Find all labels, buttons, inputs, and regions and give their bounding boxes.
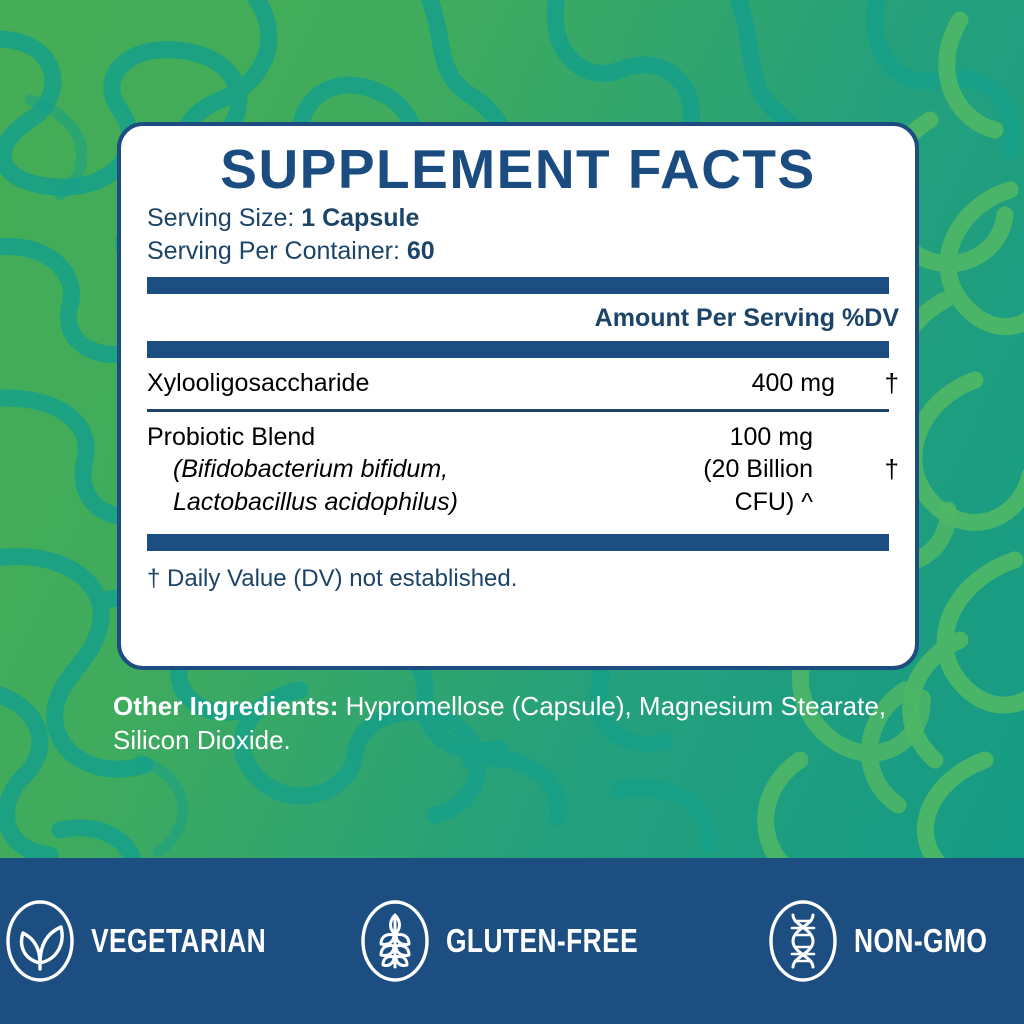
serving-size-line: Serving Size: 1 Capsule — [147, 202, 889, 235]
ingredient-strain-1: (Bifidobacterium bifidum, — [147, 453, 587, 486]
table-row: Xylooligosaccharide 400 mg † — [147, 358, 899, 409]
wheat-icon — [358, 897, 432, 985]
ingredient-dv: † — [835, 358, 899, 409]
column-header-dv: %DV — [835, 294, 899, 341]
amount-line-2: (20 Billion — [703, 455, 813, 483]
ingredient-dv: † — [835, 412, 899, 528]
badge-label-non-gmo: NON-GMO — [854, 922, 987, 960]
certification-badge-bar: VEGETARIAN GLUTEN-FREE — [0, 858, 1024, 1024]
ingredient-name: Xylooligosaccharide — [147, 358, 587, 409]
other-ingredients-label: Other Ingredients: — [113, 691, 338, 721]
badge-label-gluten-free: GLUTEN-FREE — [446, 922, 638, 960]
badge-gluten-free: GLUTEN-FREE — [358, 897, 686, 985]
other-ingredients: Other Ingredients: Hypromellose (Capsule… — [113, 690, 913, 758]
table-header-row: Amount Per Serving %DV — [147, 294, 899, 341]
nutrition-rows: Xylooligosaccharide 400 mg † — [147, 358, 899, 409]
column-header-amount: Amount Per Serving — [587, 294, 835, 341]
ingredient-name: Probiotic Blend — [147, 423, 315, 451]
serving-per-container-value: 60 — [407, 237, 435, 265]
supplement-facts-panel: SUPPLEMENT FACTS Serving Size: 1 Capsule… — [0, 0, 1024, 1024]
table-header-bar — [147, 341, 889, 358]
page-title: SUPPLEMENT FACTS — [147, 140, 889, 198]
ingredient-strain-2: Lactobacillus acidophilus) — [147, 486, 587, 519]
table-row: Probiotic Blend (Bifidobacterium bifidum… — [147, 412, 899, 528]
serving-per-container-line: Serving Per Container: 60 — [147, 235, 889, 268]
ingredient-amount-block: 100 mg (20 Billion CFU) ^ — [587, 412, 835, 528]
supplement-facts-card: SUPPLEMENT FACTS Serving Size: 1 Capsule… — [117, 122, 919, 670]
ingredient-amount: 400 mg — [587, 358, 835, 409]
leaves-icon — [3, 897, 77, 985]
nutrition-rows-2: Probiotic Blend (Bifidobacterium bifidum… — [147, 412, 899, 528]
serving-size-value: 1 Capsule — [301, 204, 419, 232]
serving-size-label: Serving Size: — [147, 204, 294, 232]
nutrition-table: Amount Per Serving %DV — [147, 294, 899, 341]
badge-label-vegetarian: VEGETARIAN — [91, 922, 266, 960]
footnote-daily-value: † Daily Value (DV) not established. — [147, 551, 889, 593]
amount-line-3: CFU) ^ — [735, 488, 813, 516]
table-bottom-bar — [147, 534, 889, 551]
dna-icon — [766, 897, 840, 985]
serving-per-container-label: Serving Per Container: — [147, 237, 400, 265]
amount-line-1: 100 mg — [730, 423, 813, 451]
badge-vegetarian: VEGETARIAN — [3, 897, 310, 985]
ingredient-name-block: Probiotic Blend (Bifidobacterium bifidum… — [147, 412, 587, 528]
table-top-bar — [147, 277, 889, 294]
badge-non-gmo: NON-GMO — [766, 897, 1021, 985]
